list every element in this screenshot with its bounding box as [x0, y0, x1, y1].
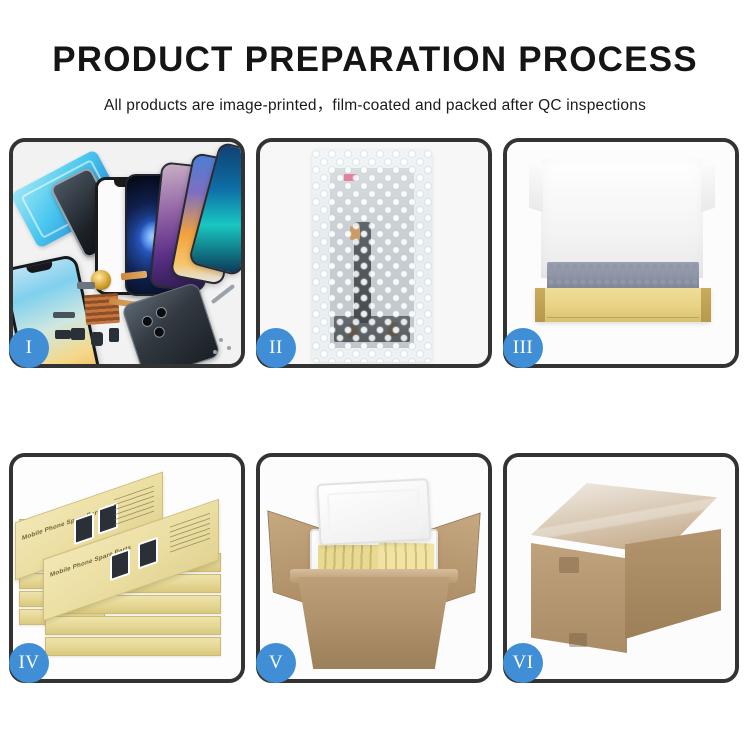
step-badge-4: IV — [9, 643, 49, 683]
box-stack: Mobile Phone Spare Parts Mobile Phone Sp… — [13, 457, 241, 679]
step-3-image — [507, 142, 735, 364]
box-body — [45, 637, 221, 656]
step-badge-2: II — [256, 328, 296, 368]
sim-tray-part-icon — [53, 312, 75, 318]
box-body — [45, 616, 221, 635]
step-4-image: Mobile Phone Spare Parts Mobile Phone Sp… — [13, 457, 241, 679]
yellow-box-base-icon — [535, 288, 711, 322]
bracket-part-icon — [77, 282, 95, 289]
page-subtitle: All products are image-printed，film-coat… — [0, 93, 750, 115]
step-badge-6: VI — [503, 643, 543, 683]
connector-part-icon — [55, 330, 71, 339]
step-badge-1: I — [9, 328, 49, 368]
header: PRODUCT PREPARATION PROCESS All products… — [0, 0, 750, 115]
step-panel-1: I — [9, 138, 245, 368]
step-badge-3: III — [503, 328, 543, 368]
product-preparation-infographic: PRODUCT PREPARATION PROCESS All products… — [0, 0, 750, 750]
step-panel-3: III — [503, 138, 739, 368]
connector-part-icon — [109, 328, 119, 342]
screw-part-icon — [213, 350, 217, 354]
page-title: PRODUCT PREPARATION PROCESS — [0, 42, 750, 77]
connector-part-icon — [71, 328, 85, 340]
step-2-image — [260, 142, 488, 364]
connector-part-icon — [91, 332, 103, 346]
foam-lid-icon — [316, 478, 431, 546]
step-5-image — [260, 457, 488, 679]
carton-handle-tab-icon — [559, 557, 579, 573]
bubble-wrap-bag-icon — [312, 150, 432, 362]
tweezers-tool-icon — [211, 284, 236, 304]
carton-body-icon — [298, 577, 450, 669]
process-step-grid: I II — [9, 138, 741, 683]
step-6-image — [507, 457, 735, 679]
bubble-texture — [312, 150, 432, 362]
step-panel-4: Mobile Phone Spare Parts Mobile Phone Sp… — [9, 453, 245, 683]
carton-side-face-icon — [625, 529, 721, 639]
screw-part-icon — [219, 338, 223, 342]
step-1-image — [13, 142, 241, 364]
carton-handle-tab-icon — [569, 633, 587, 647]
step-badge-5: V — [256, 643, 296, 683]
step-panel-6: VI — [503, 453, 739, 683]
white-box-lid-icon — [541, 158, 703, 278]
step-panel-5: V — [256, 453, 492, 683]
step-panel-2: II — [256, 138, 492, 368]
screw-part-icon — [227, 346, 231, 350]
